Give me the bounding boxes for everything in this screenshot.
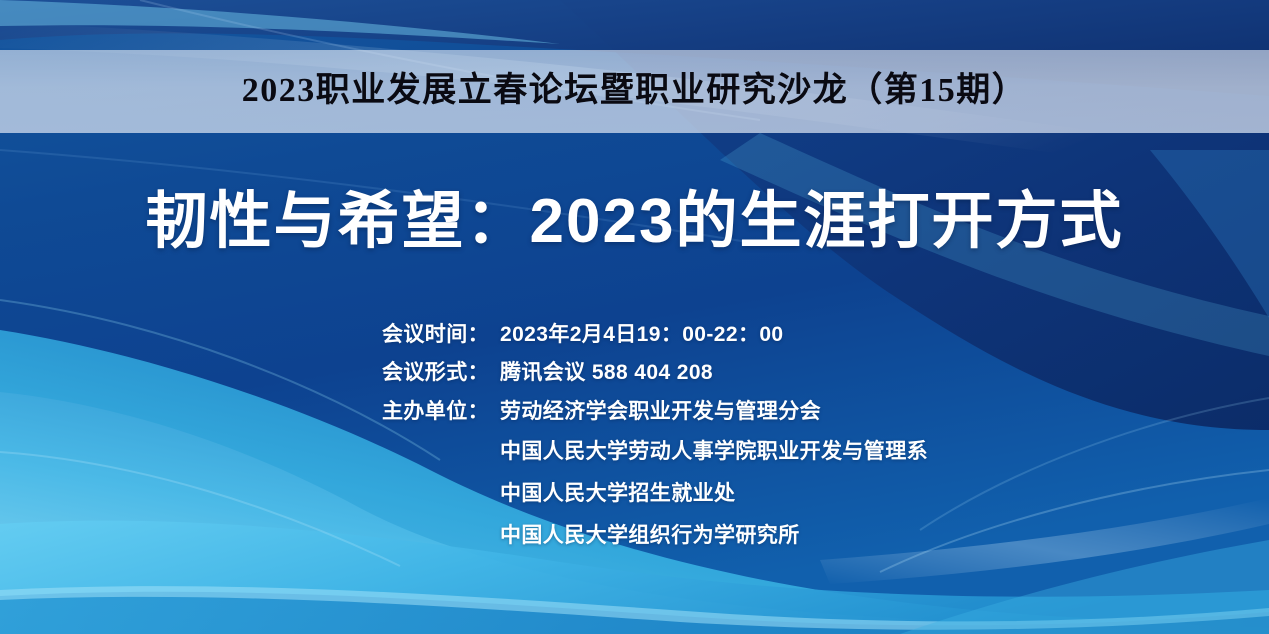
page-title: 韧性与希望：2023的生涯打开方式: [0, 186, 1269, 257]
event-info-block: 会议时间： 2023年2月4日19：00-22：00 会议形式： 腾讯会议 58…: [382, 322, 928, 549]
info-row-meeting-time: 会议时间： 2023年2月4日19：00-22：00: [382, 322, 928, 348]
event-poster: 2023职业发展立春论坛暨职业研究沙龙（第15期） 韧性与希望：2023的生涯打…: [0, 0, 1269, 634]
organizers-label: 主办单位：: [382, 399, 500, 425]
banner-band: 2023职业发展立春论坛暨职业研究沙龙（第15期）: [0, 50, 1269, 133]
banner-title: 2023职业发展立春论坛暨职业研究沙龙（第15期）: [242, 74, 1028, 110]
info-row-meeting-format: 会议形式： 腾讯会议 588 404 208: [382, 360, 928, 386]
organizer-item: 中国人民大学组织行为学研究所: [500, 519, 928, 549]
meeting-time-value: 2023年2月4日19：00-22：00: [500, 322, 928, 348]
organizer-item: 中国人民大学招生就业处: [500, 477, 928, 507]
meeting-format-value: 腾讯会议 588 404 208: [500, 360, 928, 386]
meeting-time-label: 会议时间：: [382, 322, 500, 348]
organizer-item: 中国人民大学劳动人事学院职业开发与管理系: [500, 435, 928, 465]
info-row-organizers: 主办单位： 劳动经济学会职业开发与管理分会: [382, 399, 928, 425]
meeting-format-label: 会议形式：: [382, 360, 500, 386]
organizer-primary: 劳动经济学会职业开发与管理分会: [500, 399, 928, 425]
